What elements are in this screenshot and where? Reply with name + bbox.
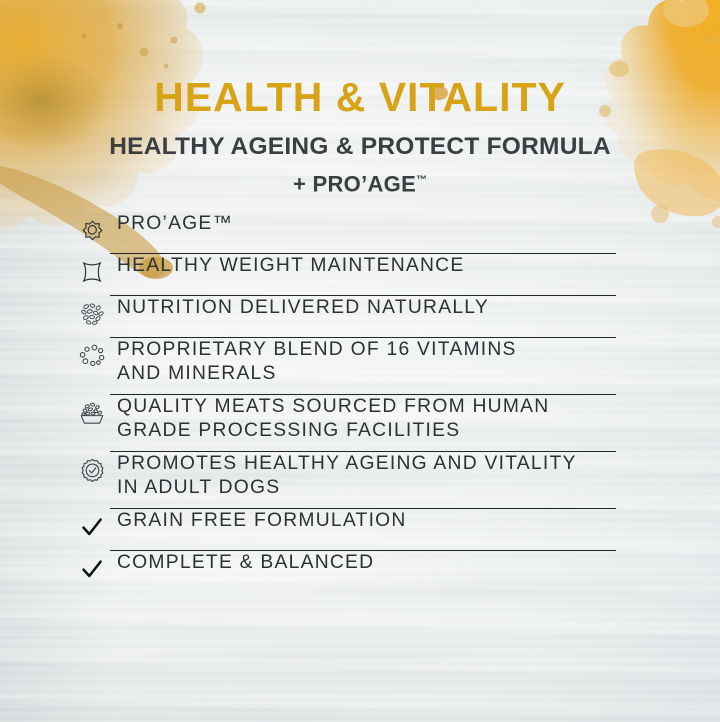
- feature-body: PROPRIETARY BLEND OF 16 VITAMINS AND MIN…: [117, 338, 617, 395]
- concave-square-weight-icon: [76, 256, 108, 288]
- feature-item: QUALITY MEATS SOURCED FROM HUMAN GRADE P…: [0, 395, 720, 452]
- feature-body: COMPLETE & BALANCED: [117, 551, 617, 584]
- feature-label: QUALITY MEATS SOURCED FROM HUMAN GRADE P…: [117, 395, 617, 443]
- feature-label: NUTRITION DELIVERED NATURALLY: [117, 296, 617, 320]
- food-bowl-icon: [76, 397, 108, 429]
- feature-item: PRO’AGE™: [0, 212, 720, 254]
- vitamin-ring-icon: [76, 340, 108, 372]
- product-feature-panel: HEALTH & VITALITY HEALTHY AGEING & PROTE…: [0, 0, 720, 722]
- feature-body: PROMOTES HEALTHY AGEING AND VITALITY IN …: [117, 452, 617, 509]
- feature-item: HEALTHY WEIGHT MAINTENANCE: [0, 254, 720, 296]
- feature-item: PROPRIETARY BLEND OF 16 VITAMINS AND MIN…: [0, 338, 720, 395]
- kibble-cluster-icon: [76, 298, 108, 330]
- feature-label: HEALTHY WEIGHT MAINTENANCE: [117, 254, 617, 278]
- feature-body: HEALTHY WEIGHT MAINTENANCE: [117, 254, 617, 287]
- feature-label: PRO’AGE™: [117, 212, 617, 236]
- feature-label: COMPLETE & BALANCED: [117, 551, 617, 575]
- page-title: HEALTH & VITALITY: [0, 74, 720, 120]
- feature-item: COMPLETE & BALANCED: [0, 551, 720, 593]
- feature-body: PRO’AGE™: [117, 212, 617, 245]
- feature-item: PROMOTES HEALTHY AGEING AND VITALITY IN …: [0, 452, 720, 509]
- feature-label: PROPRIETARY BLEND OF 16 VITAMINS AND MIN…: [117, 338, 617, 386]
- page-subtitle-proage: + PRO’AGE™: [0, 166, 720, 198]
- sunburst-icon: [76, 214, 108, 246]
- seal-check-icon: [76, 454, 108, 486]
- check-icon: [76, 553, 108, 585]
- feature-body: NUTRITION DELIVERED NATURALLY: [117, 296, 617, 329]
- feature-body: GRAIN FREE FORMULATION: [117, 509, 617, 542]
- feature-list: PRO’AGE™ HEALTHY WEIGHT MAINTENANCE NUTR…: [0, 212, 720, 593]
- feature-item: NUTRITION DELIVERED NATURALLY: [0, 296, 720, 338]
- feature-body: QUALITY MEATS SOURCED FROM HUMAN GRADE P…: [117, 395, 617, 452]
- header: HEALTH & VITALITY HEALTHY AGEING & PROTE…: [0, 74, 720, 198]
- feature-label: GRAIN FREE FORMULATION: [117, 509, 617, 533]
- feature-label: PROMOTES HEALTHY AGEING AND VITALITY IN …: [117, 452, 617, 500]
- proage-label: + PRO’AGE: [293, 171, 416, 196]
- feature-item: GRAIN FREE FORMULATION: [0, 509, 720, 551]
- trademark-symbol: ™: [416, 174, 427, 186]
- check-icon: [76, 511, 108, 543]
- page-subtitle: HEALTHY AGEING & PROTECT FORMULA: [0, 131, 720, 162]
